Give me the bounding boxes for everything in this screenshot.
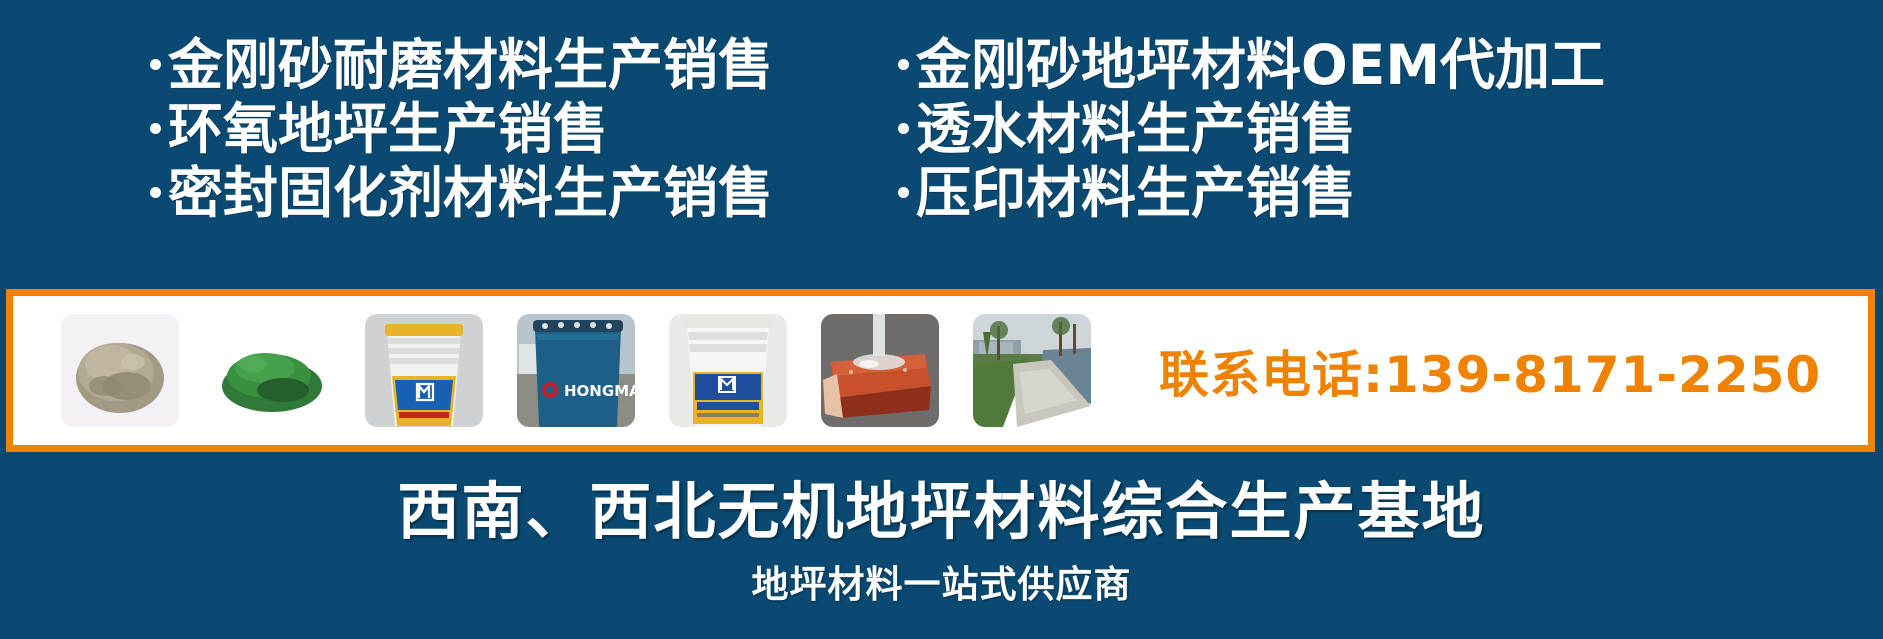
product-thumb-permeable-concrete-sample [821, 314, 939, 427]
service-item: 金刚砂地坪材料OEM代加工 [898, 34, 1883, 98]
service-item: 压印材料生产销售 [898, 162, 1883, 226]
footer-headline: 西南、西北无机地坪材料综合生产基地 [0, 461, 1883, 551]
service-label: 密封固化剂材料生产销售 [168, 162, 773, 226]
bullet-dot-icon [150, 123, 161, 134]
product-thumb-hongma-blue-drum: HONGMA [517, 314, 635, 427]
service-label: 压印材料生产销售 [916, 162, 1356, 226]
footer-subheadline: 地坪材料一站式供应商 [0, 554, 1883, 608]
service-label: 金刚砂耐磨材料生产销售 [168, 34, 773, 98]
service-label: 金刚砂地坪材料OEM代加工 [916, 34, 1605, 98]
bullet-dot-icon [150, 59, 161, 70]
services-right-column: 金刚砂地坪材料OEM代加工 透水材料生产销售 压印材料生产销售 [880, 34, 1883, 286]
product-thumb-green-color-powder [213, 314, 331, 427]
product-thumb-epoxy-floor-coating-pail [669, 314, 787, 427]
contact-phone[interactable]: 联系电话:139-8171-2250 [1159, 335, 1821, 407]
product-thumbnail-list: HONGMA [61, 314, 1091, 427]
service-label: 环氧地坪生产销售 [168, 98, 608, 162]
services-section: 金刚砂耐磨材料生产销售 环氧地坪生产销售 密封固化剂材料生产销售 金刚砂地坪材料… [0, 34, 1883, 286]
product-thumb-grey-abrasive-powder [61, 314, 179, 427]
bullet-dot-icon [150, 187, 161, 198]
product-strip: HONGMA [6, 289, 1875, 452]
product-thumb-sealer-hardener-pail [365, 314, 483, 427]
services-left-column: 金刚砂耐磨材料生产销售 环氧地坪生产销售 密封固化剂材料生产销售 [0, 34, 880, 286]
service-item: 环氧地坪生产销售 [150, 98, 880, 162]
bullet-dot-icon [898, 187, 909, 198]
service-item: 密封固化剂材料生产销售 [150, 162, 880, 226]
svg-text:HONGMA: HONGMA [564, 382, 635, 400]
bullet-dot-icon [898, 123, 909, 134]
service-item: 金刚砂耐磨材料生产销售 [150, 34, 880, 98]
promotional-banner: 金刚砂耐磨材料生产销售 环氧地坪生产销售 密封固化剂材料生产销售 金刚砂地坪材料… [0, 0, 1883, 639]
bullet-dot-icon [898, 59, 909, 70]
service-item: 透水材料生产销售 [898, 98, 1883, 162]
service-label: 透水材料生产销售 [916, 98, 1356, 162]
product-thumb-stamped-concrete-path [973, 314, 1091, 427]
